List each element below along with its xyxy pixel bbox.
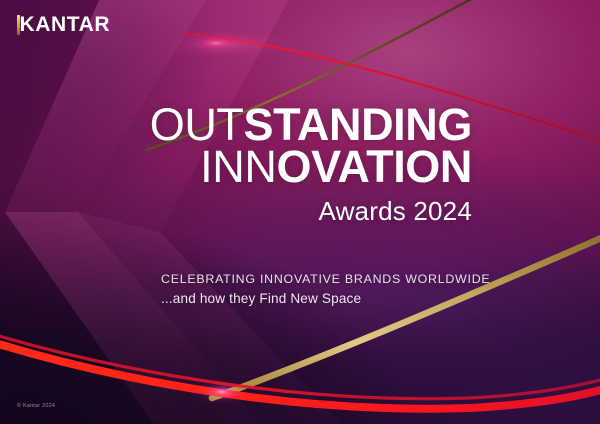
chevron-lower-band: [78, 212, 360, 424]
kantar-logo: KANTAR: [17, 14, 110, 35]
subtitle-block: CELEBRATING INNOVATIVE BRANDS WORLDWIDE …: [161, 272, 490, 306]
red-curve-bottom-thin: [0, 334, 600, 399]
headline-ovation: OVATION: [276, 141, 472, 192]
kantar-logo-text: KANTAR: [20, 14, 111, 35]
chevron-lower-limb: [5, 212, 278, 424]
subtitle-secondary: ...and how they Find New Space: [161, 291, 490, 306]
headline-line-2: INNOVATION: [0, 146, 472, 188]
title-slide: KANTAR OUTSTANDING INNOVATION Awards 202…: [0, 0, 600, 424]
red-curve-bottom: [0, 342, 600, 409]
crossing-glow-top: [190, 35, 242, 51]
crossing-glow-top-wide: [146, 27, 302, 61]
crossing-glow-bottom: [192, 379, 252, 405]
headline-inn: INN: [200, 141, 276, 192]
headline-line-1: OUTSTANDING: [0, 104, 472, 146]
gold-line-bottom: [212, 236, 600, 398]
headline-block: OUTSTANDING INNOVATION Awards 2024: [0, 104, 472, 227]
headline-awards-year: Awards 2024: [0, 196, 472, 227]
copyright-notice: © Kantar 2024: [17, 403, 55, 409]
subtitle-primary: CELEBRATING INNOVATIVE BRANDS WORLDWIDE: [161, 272, 490, 286]
